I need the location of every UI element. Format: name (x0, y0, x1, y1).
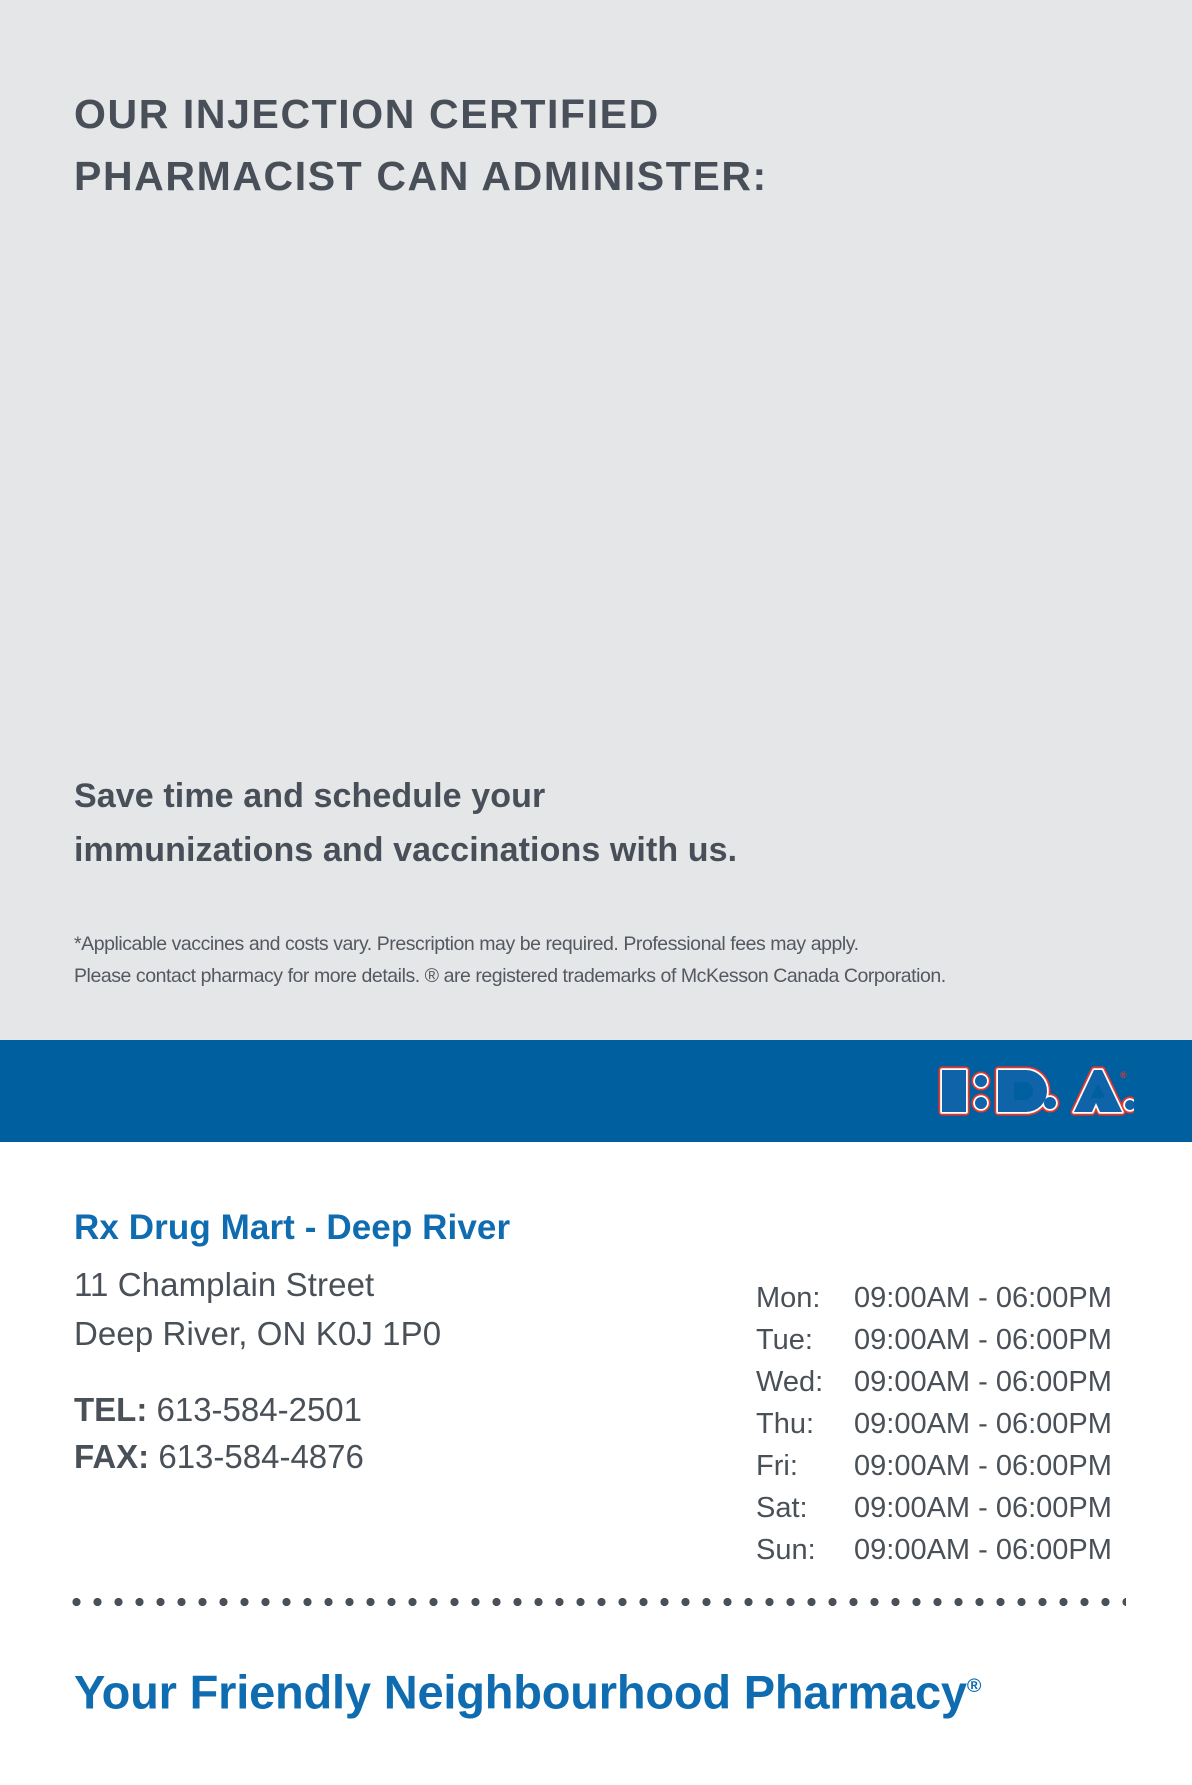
hours-row: Fri:09:00AM - 06:00PM (756, 1445, 1156, 1487)
tel-row: TEL: 613-584-2501 (74, 1386, 754, 1433)
page-title: OUR INJECTION CERTIFIED PHARMACIST CAN A… (74, 83, 894, 207)
promo-text: Save time and schedule your immunization… (74, 769, 894, 877)
hours-row: Sat:09:00AM - 06:00PM (756, 1487, 1156, 1529)
ida-logo-icon: ® (934, 1060, 1134, 1122)
fax-label: FAX: (74, 1438, 149, 1475)
hours-day: Thu: (756, 1403, 854, 1445)
tel-value[interactable]: 613-584-2501 (157, 1391, 363, 1428)
store-name: Rx Drug Mart - Deep River (74, 1205, 754, 1251)
hours-time: 09:00AM - 06:00PM (854, 1319, 1112, 1361)
hours-row: Thu:09:00AM - 06:00PM (756, 1403, 1156, 1445)
hours-time: 09:00AM - 06:00PM (854, 1529, 1112, 1571)
store-address: 11 Champlain Street Deep River, ON K0J 1… (74, 1260, 754, 1358)
hours-row: Mon:09:00AM - 06:00PM (756, 1277, 1156, 1319)
hours-time: 09:00AM - 06:00PM (854, 1487, 1112, 1529)
hours-row: Sun:09:00AM - 06:00PM (756, 1529, 1156, 1571)
store-contact: TEL: 613-584-2501 FAX: 613-584-4876 (74, 1386, 754, 1480)
store-hours: Mon:09:00AM - 06:00PMTue:09:00AM - 06:00… (756, 1277, 1156, 1571)
hours-day: Sun: (756, 1529, 854, 1571)
flyer-page: OUR INJECTION CERTIFIED PHARMACIST CAN A… (0, 0, 1192, 1785)
disclaimer-text: *Applicable vaccines and costs vary. Pre… (74, 928, 1134, 992)
hours-day: Mon: (756, 1277, 854, 1319)
hours-time: 09:00AM - 06:00PM (854, 1277, 1112, 1319)
store-info: Rx Drug Mart - Deep River 11 Champlain S… (74, 1205, 754, 1480)
hours-day: Fri: (756, 1445, 854, 1487)
fax-value: 613-584-4876 (158, 1438, 364, 1475)
footer-registered-mark: ® (967, 1675, 981, 1697)
dotted-divider (66, 1598, 1126, 1606)
fax-row: FAX: 613-584-4876 (74, 1433, 754, 1480)
hours-row: Wed:09:00AM - 06:00PM (756, 1361, 1156, 1403)
svg-text:®: ® (1120, 1070, 1127, 1080)
hours-day: Wed: (756, 1361, 854, 1403)
brand-band: ® (0, 1040, 1192, 1142)
hours-day: Sat: (756, 1487, 854, 1529)
footer-tagline: Your Friendly Neighbourhood Pharmacy® (74, 1653, 981, 1726)
hours-time: 09:00AM - 06:00PM (854, 1403, 1112, 1445)
hours-time: 09:00AM - 06:00PM (854, 1361, 1112, 1403)
hours-time: 09:00AM - 06:00PM (854, 1445, 1112, 1487)
footer-tagline-text: Your Friendly Neighbourhood Pharmacy (74, 1666, 967, 1719)
tel-label: TEL: (74, 1391, 147, 1428)
hero-panel: OUR INJECTION CERTIFIED PHARMACIST CAN A… (0, 0, 1192, 1040)
hours-row: Tue:09:00AM - 06:00PM (756, 1319, 1156, 1361)
hours-day: Tue: (756, 1319, 854, 1361)
